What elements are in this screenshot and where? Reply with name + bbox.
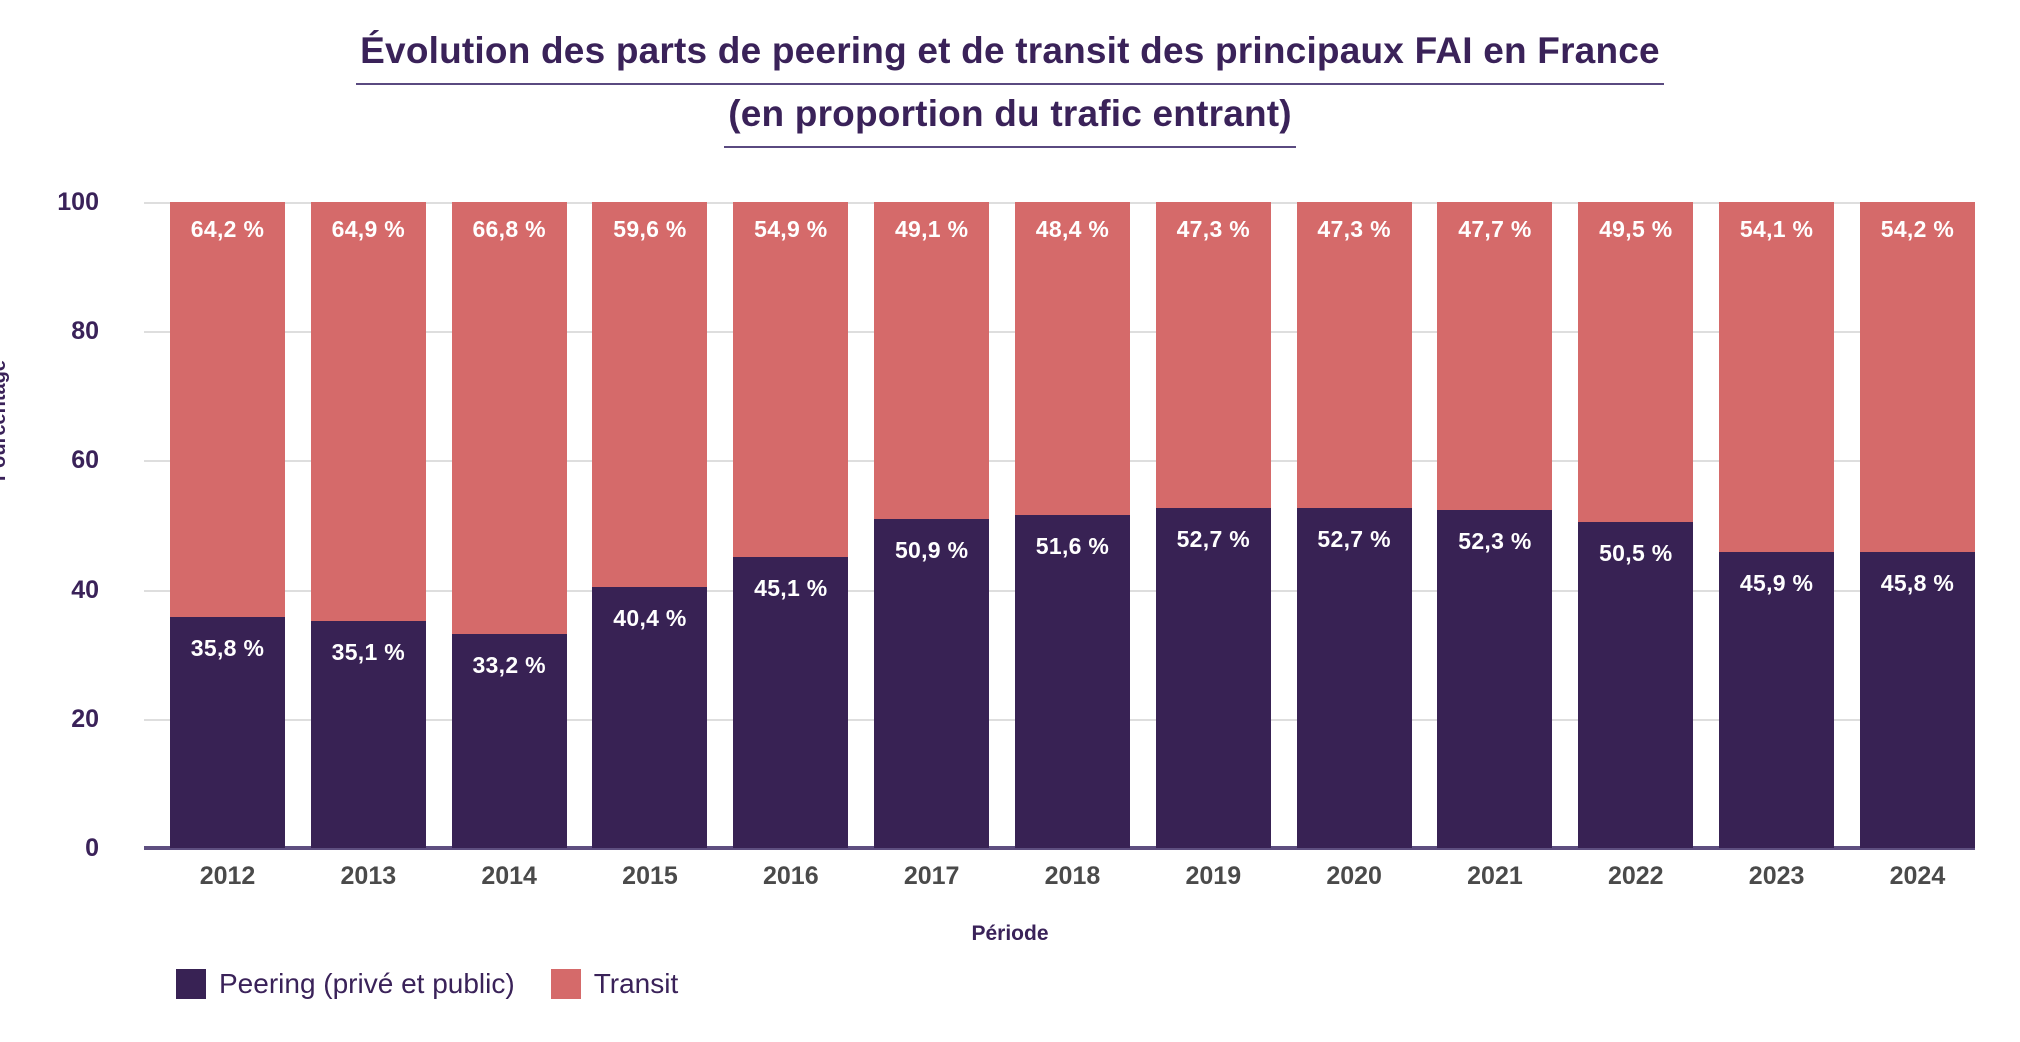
bar-value-label-peering: 33,2 % <box>472 652 545 679</box>
legend-label: Transit <box>594 968 679 1000</box>
bar-value-label-peering: 35,8 % <box>191 635 264 662</box>
bar-value-label-transit: 49,1 % <box>895 216 968 243</box>
bar-value-label-transit: 47,7 % <box>1458 216 1531 243</box>
bar-segment-transit[interactable]: 54,2 % <box>1860 202 1975 552</box>
bar-segment-transit[interactable]: 66,8 % <box>452 202 567 634</box>
bar-segment-peering[interactable]: 45,1 % <box>733 557 848 848</box>
legend-item-transit[interactable]: Transit <box>551 968 679 1000</box>
chart-title-line-2: (en proportion du trafic entrant) <box>724 85 1296 148</box>
x-axis-tick-label: 2012 <box>170 862 285 891</box>
bar-segment-transit[interactable]: 48,4 % <box>1015 202 1130 515</box>
bar-group[interactable]: 54,9 %45,1 % <box>733 202 848 848</box>
bar-group[interactable]: 54,2 %45,8 % <box>1860 202 1975 848</box>
bar-segment-peering[interactable]: 45,8 % <box>1860 552 1975 848</box>
x-axis-tick-label: 2022 <box>1578 862 1693 891</box>
bar-value-label-transit: 66,8 % <box>472 216 545 243</box>
bar-group[interactable]: 64,9 %35,1 % <box>311 202 426 848</box>
bar-segment-transit[interactable]: 59,6 % <box>592 202 707 587</box>
bar-segment-peering[interactable]: 35,1 % <box>311 621 426 848</box>
bar-value-label-peering: 50,5 % <box>1599 540 1672 567</box>
chart-title: Évolution des parts de peering et de tra… <box>0 22 2020 148</box>
bar-value-label-transit: 48,4 % <box>1036 216 1109 243</box>
bar-value-label-transit: 47,3 % <box>1317 216 1390 243</box>
bar-segment-transit[interactable]: 49,1 % <box>874 202 989 519</box>
x-axis-tick-label: 2016 <box>733 862 848 891</box>
x-axis-title: Période <box>0 922 2020 946</box>
bar-value-label-transit: 54,1 % <box>1740 216 1813 243</box>
bar-value-label-peering: 52,7 % <box>1317 526 1390 553</box>
x-axis-tick-label: 2023 <box>1719 862 1834 891</box>
x-axis-tick-label: 2019 <box>1156 862 1271 891</box>
bar-group[interactable]: 47,7 %52,3 % <box>1437 202 1552 848</box>
x-axis-tick-label: 2013 <box>311 862 426 891</box>
bar-series-container: 64,2 %35,8 %64,9 %35,1 %66,8 %33,2 %59,6… <box>170 202 1975 848</box>
x-axis-ticks: 2012201320142015201620172018201920202021… <box>170 862 1975 891</box>
bar-segment-transit[interactable]: 64,9 % <box>311 202 426 621</box>
bar-value-label-peering: 52,7 % <box>1177 526 1250 553</box>
x-axis-tick-label: 2017 <box>874 862 989 891</box>
bar-segment-peering[interactable]: 51,6 % <box>1015 515 1130 848</box>
bar-value-label-transit: 49,5 % <box>1599 216 1672 243</box>
legend-label: Peering (privé et public) <box>219 968 515 1000</box>
x-axis-tick-label: 2014 <box>452 862 567 891</box>
bar-value-label-peering: 40,4 % <box>613 605 686 632</box>
bar-value-label-peering: 51,6 % <box>1036 533 1109 560</box>
legend-item-peering[interactable]: Peering (privé et public) <box>176 968 515 1000</box>
x-axis-tick-label: 2020 <box>1297 862 1412 891</box>
bar-value-label-peering: 45,1 % <box>754 575 827 602</box>
bar-group[interactable]: 47,3 %52,7 % <box>1297 202 1412 848</box>
y-axis-tick-label: 20 <box>9 705 99 734</box>
bar-segment-peering[interactable]: 40,4 % <box>592 587 707 848</box>
bar-segment-peering[interactable]: 35,8 % <box>170 617 285 848</box>
y-axis-tick-label: 0 <box>9 834 99 863</box>
y-axis-tick-label: 80 <box>9 317 99 346</box>
bar-segment-transit[interactable]: 49,5 % <box>1578 202 1693 522</box>
bar-segment-peering[interactable]: 50,5 % <box>1578 522 1693 848</box>
x-axis-tick-label: 2021 <box>1437 862 1552 891</box>
bar-segment-transit[interactable]: 54,1 % <box>1719 202 1834 551</box>
bar-group[interactable]: 48,4 %51,6 % <box>1015 202 1130 848</box>
y-axis-tick-label: 100 <box>9 188 99 217</box>
bar-value-label-peering: 52,3 % <box>1458 528 1531 555</box>
bar-value-label-peering: 45,8 % <box>1881 570 1954 597</box>
legend-swatch-icon <box>176 969 206 999</box>
plot-area: 020406080100 64,2 %35,8 %64,9 %35,1 %66,… <box>170 202 1975 848</box>
bar-value-label-transit: 54,2 % <box>1881 216 1954 243</box>
bar-segment-transit[interactable]: 47,7 % <box>1437 202 1552 510</box>
x-axis-tick-label: 2024 <box>1860 862 1975 891</box>
bar-group[interactable]: 59,6 %40,4 % <box>592 202 707 848</box>
y-axis-tick-label: 60 <box>9 446 99 475</box>
chart-legend: Peering (privé et public)Transit <box>176 968 678 1000</box>
bar-group[interactable]: 64,2 %35,8 % <box>170 202 285 848</box>
bar-value-label-peering: 50,9 % <box>895 537 968 564</box>
bar-group[interactable]: 49,5 %50,5 % <box>1578 202 1693 848</box>
bar-group[interactable]: 49,1 %50,9 % <box>874 202 989 848</box>
bar-value-label-transit: 59,6 % <box>613 216 686 243</box>
bar-value-label-transit: 64,9 % <box>332 216 405 243</box>
bar-segment-peering[interactable]: 33,2 % <box>452 634 567 848</box>
bar-segment-peering[interactable]: 52,7 % <box>1156 508 1271 848</box>
chart-title-line-1: Évolution des parts de peering et de tra… <box>356 22 1664 85</box>
bar-value-label-transit: 47,3 % <box>1177 216 1250 243</box>
bar-segment-transit[interactable]: 64,2 % <box>170 202 285 617</box>
bar-group[interactable]: 47,3 %52,7 % <box>1156 202 1271 848</box>
bar-value-label-transit: 64,2 % <box>191 216 264 243</box>
bar-segment-peering[interactable]: 50,9 % <box>874 519 989 848</box>
bar-value-label-peering: 45,9 % <box>1740 570 1813 597</box>
bar-segment-peering[interactable]: 52,3 % <box>1437 510 1552 848</box>
bar-value-label-peering: 35,1 % <box>332 639 405 666</box>
bar-segment-peering[interactable]: 45,9 % <box>1719 552 1834 849</box>
y-axis-tick-label: 40 <box>9 576 99 605</box>
bar-segment-peering[interactable]: 52,7 % <box>1297 508 1412 848</box>
bar-segment-transit[interactable]: 54,9 % <box>733 202 848 557</box>
bar-group[interactable]: 66,8 %33,2 % <box>452 202 567 848</box>
legend-swatch-icon <box>551 969 581 999</box>
x-axis-tick-label: 2015 <box>592 862 707 891</box>
x-axis-tick-label: 2018 <box>1015 862 1130 891</box>
bar-group[interactable]: 54,1 %45,9 % <box>1719 202 1834 848</box>
bar-value-label-transit: 54,9 % <box>754 216 827 243</box>
chart-page: Évolution des parts de peering et de tra… <box>0 0 2020 1042</box>
bar-segment-transit[interactable]: 47,3 % <box>1156 202 1271 508</box>
bar-segment-transit[interactable]: 47,3 % <box>1297 202 1412 508</box>
